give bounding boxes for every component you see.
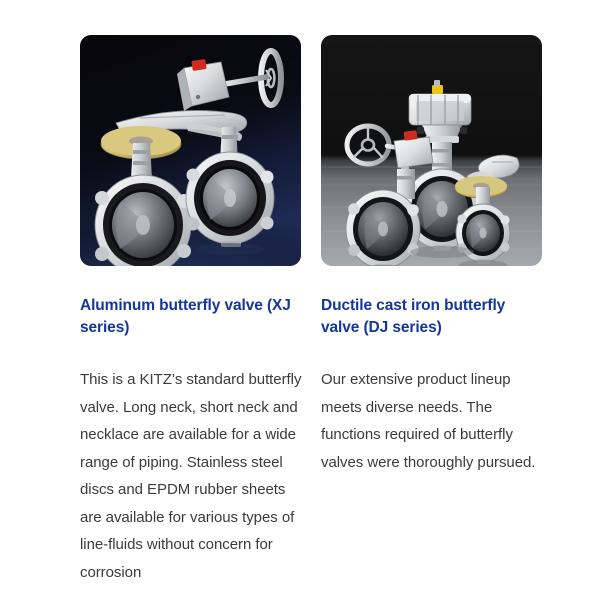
product-grid: Aluminum butterfly valve (XJ series) Thi… [80,35,542,586]
product-card: Aluminum butterfly valve (XJ series) Thi… [80,35,301,586]
product-title: Ductile cast iron butterfly valve (DJ se… [321,295,536,339]
product-description: Our extensive product lineup meets diver… [321,366,543,476]
product-description: This is a KITZ’s standard butterfly valv… [80,366,302,586]
product-title: Aluminum butterfly valve (XJ series) [80,295,295,339]
product-card: Ductile cast iron butterfly valve (DJ se… [321,35,542,586]
aluminum-butterfly-valve-photo[interactable] [80,35,301,266]
ductile-cast-iron-butterfly-valve-photo[interactable] [321,35,542,266]
